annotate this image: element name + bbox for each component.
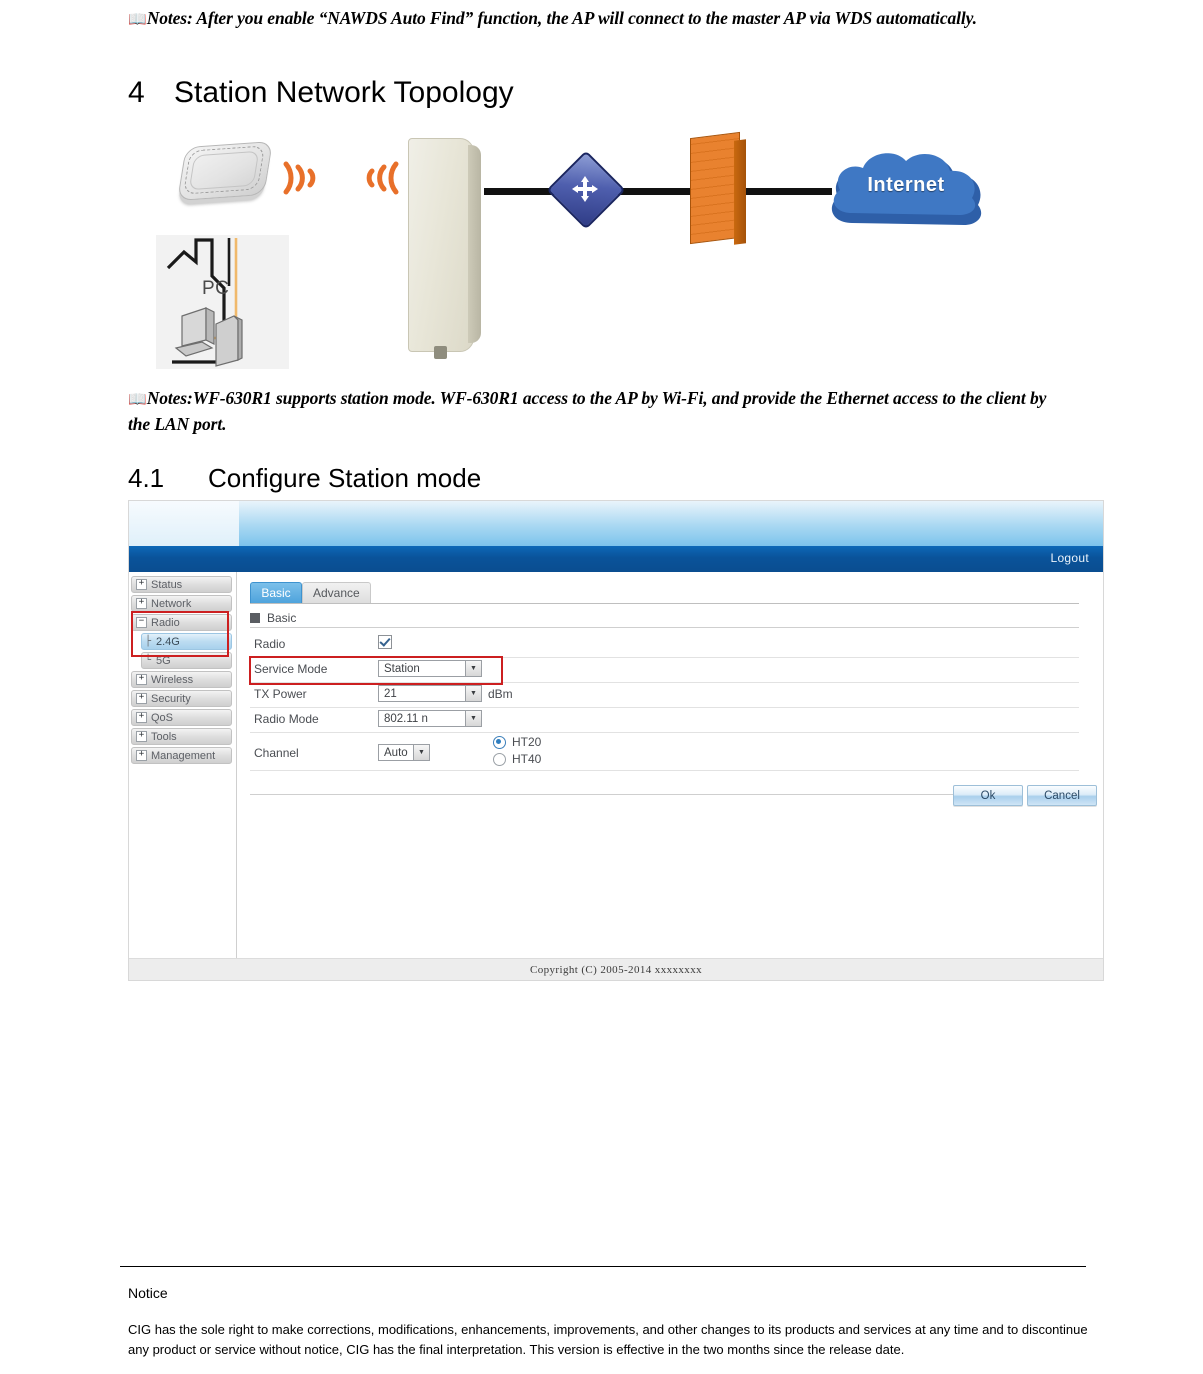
- internet-label: Internet: [822, 145, 990, 237]
- network-switch-icon: [554, 158, 618, 222]
- ui-banner-logo-area: [129, 501, 239, 546]
- field-label-channel: Channel: [254, 746, 299, 760]
- ht40-radio-icon[interactable]: [493, 753, 506, 766]
- note-wf630r1-station-mode: 📖Notes:WF-630R1 supports station mode. W…: [128, 386, 1058, 437]
- ui-banner-gradient: [239, 501, 1103, 546]
- notice-body: CIG has the sole right to make correctio…: [128, 1320, 1088, 1360]
- network-topology-diagram: PC: [150, 130, 1010, 375]
- firewall-icon: [690, 135, 752, 243]
- sidebar-item-qos[interactable]: +QoS: [131, 709, 232, 726]
- channel-value: Auto: [384, 747, 408, 759]
- sidebar-item-label: Network: [151, 598, 191, 610]
- tab-bar-divider: [250, 603, 1079, 604]
- tx-power-select[interactable]: 21 ▼: [378, 685, 482, 702]
- ui-top-navbar: [129, 546, 1103, 572]
- tx-power-unit-label: dBm: [488, 687, 513, 701]
- tab-basic[interactable]: Basic: [250, 582, 302, 603]
- radio-mode-value: 802.11 n: [384, 713, 428, 725]
- sidebar-item-security[interactable]: +Security: [131, 690, 232, 707]
- chevron-down-icon[interactable]: ▼: [465, 711, 481, 726]
- field-row-channel: Channel Auto ▼ HT20: [250, 735, 1079, 771]
- cancel-button[interactable]: Cancel: [1027, 785, 1097, 806]
- expand-plus-icon[interactable]: +: [136, 693, 147, 704]
- field-row-radio-mode: Radio Mode 802.11 n ▼: [250, 707, 1079, 733]
- ht20-radio-icon[interactable]: [493, 736, 506, 749]
- field-row-radio: Radio: [250, 632, 1079, 658]
- internet-cloud-icon: Internet: [822, 145, 990, 237]
- section-bullet-icon: [250, 613, 260, 623]
- field-label-tx-power: TX Power: [254, 687, 307, 701]
- tab-advance[interactable]: Advance: [302, 582, 371, 603]
- field-control-channel: Auto ▼: [378, 744, 430, 761]
- ok-button[interactable]: Ok: [953, 785, 1023, 806]
- wifi-waves-left-icon: [350, 150, 406, 206]
- note-text: Notes: After you enable “NAWDS Auto Find…: [147, 8, 977, 28]
- sidebar-item-2-4g[interactable]: ├2.4G: [141, 633, 232, 650]
- sidebar-item-5g[interactable]: └5G: [141, 652, 232, 669]
- heading-number: 4.1: [128, 463, 208, 494]
- sidebar-item-management[interactable]: +Management: [131, 747, 232, 764]
- ui-banner: [129, 501, 1103, 546]
- sidebar-item-status[interactable]: +Status: [131, 576, 232, 593]
- pc-icon: [172, 302, 258, 370]
- section-header-basic: Basic: [250, 611, 296, 625]
- expand-plus-icon[interactable]: +: [136, 731, 147, 742]
- wifi-waves-right-icon: [276, 150, 332, 206]
- radio-enable-checkbox[interactable]: [378, 635, 392, 649]
- collapse-minus-icon[interactable]: −: [136, 617, 147, 628]
- indoor-ap-icon: [174, 140, 276, 210]
- note-text: Notes:WF-630R1 supports station mode. WF…: [128, 388, 1046, 434]
- tree-branch-icon: └: [145, 655, 156, 666]
- ui-copyright-footer: Copyright (C) 2005-2014 xxxxxxxx: [129, 958, 1103, 980]
- notice-title: Notice: [128, 1285, 168, 1301]
- field-row-service-mode: Service Mode Station ▼: [250, 657, 1079, 683]
- chevron-down-icon[interactable]: ▼: [465, 661, 481, 676]
- expand-plus-icon[interactable]: +: [136, 712, 147, 723]
- chevron-down-icon[interactable]: ▼: [413, 745, 429, 760]
- field-label-radio-mode: Radio Mode: [254, 712, 319, 726]
- service-mode-value: Station: [384, 663, 420, 675]
- pc-label: PC: [202, 278, 229, 300]
- tree-branch-icon: ├: [145, 636, 156, 647]
- sidebar-item-label: Management: [151, 750, 215, 762]
- book-icon: 📖: [128, 10, 146, 28]
- bandwidth-radio-group: HT20 HT40: [493, 735, 541, 769]
- field-control-radio: [378, 635, 392, 649]
- cpe-outdoor-unit-icon: [408, 138, 486, 356]
- sidebar-item-label: Radio: [151, 617, 180, 629]
- chevron-down-icon[interactable]: ▼: [465, 686, 481, 701]
- channel-select[interactable]: Auto ▼: [378, 744, 430, 761]
- expand-plus-icon[interactable]: +: [136, 674, 147, 685]
- expand-plus-icon[interactable]: +: [136, 598, 147, 609]
- sidebar-item-label: 5G: [156, 655, 171, 667]
- sidebar-item-network[interactable]: +Network: [131, 595, 232, 612]
- service-mode-select[interactable]: Station ▼: [378, 660, 482, 677]
- field-control-service-mode: Station ▼: [378, 660, 482, 677]
- sidebar-item-label: Tools: [151, 731, 177, 743]
- bandwidth-option-ht40[interactable]: HT40: [493, 752, 541, 766]
- radio-mode-select[interactable]: 802.11 n ▼: [378, 710, 482, 727]
- sidebar-item-label: 2.4G: [156, 636, 180, 648]
- link-firewall-internet: [746, 188, 832, 195]
- field-label-radio: Radio: [254, 637, 285, 651]
- field-label-service-mode: Service Mode: [254, 662, 327, 676]
- field-row-tx-power: TX Power 21 ▼ dBm: [250, 682, 1079, 708]
- sidebar-item-tools[interactable]: +Tools: [131, 728, 232, 745]
- action-bar-divider: [250, 794, 1010, 795]
- footer-divider: [120, 1266, 1086, 1267]
- section-title-label: Basic: [267, 611, 296, 625]
- tx-power-value: 21: [384, 688, 397, 700]
- expand-plus-icon[interactable]: +: [136, 750, 147, 761]
- note-nawds-auto-find: 📖Notes: After you enable “NAWDS Auto Fin…: [128, 6, 1088, 32]
- book-icon: 📖: [128, 390, 146, 408]
- sidebar-item-label: Security: [151, 693, 191, 705]
- field-control-tx-power: 21 ▼ dBm: [378, 685, 513, 702]
- heading-number: 4: [128, 76, 174, 110]
- heading-text: Station Network Topology: [174, 76, 514, 109]
- ui-body: +Status +Network −Radio ├2.4G └5G +Wirel…: [129, 572, 1103, 959]
- content-pane: Basic Advance Basic Radio: [238, 572, 1103, 959]
- field-control-radio-mode: 802.11 n ▼: [378, 710, 482, 727]
- link-switch-firewall: [612, 188, 694, 195]
- sidebar-item-label: QoS: [151, 712, 173, 724]
- tab-bar: Basic Advance: [250, 582, 371, 603]
- heading-text: Configure Station mode: [208, 463, 481, 493]
- bandwidth-option-ht20[interactable]: HT20: [493, 735, 541, 749]
- sidebar-item-wireless[interactable]: +Wireless: [131, 671, 232, 688]
- router-web-ui-screenshot: Logout +Status +Network −Radio ├2.4G └5G…: [128, 500, 1104, 981]
- section-divider: [250, 627, 1079, 628]
- sidebar-item-radio[interactable]: −Radio: [131, 614, 232, 631]
- document-page: 📖Notes: After you enable “NAWDS Auto Fin…: [0, 0, 1203, 1374]
- sidebar-item-label: Wireless: [151, 674, 193, 686]
- ht20-label: HT20: [512, 735, 541, 749]
- sidebar-item-label: Status: [151, 579, 182, 591]
- sidebar-menu: +Status +Network −Radio ├2.4G └5G +Wirel…: [129, 572, 237, 959]
- ht40-label: HT40: [512, 752, 541, 766]
- expand-plus-icon[interactable]: +: [136, 579, 147, 590]
- heading-configure-station-mode: 4.1Configure Station mode: [128, 463, 481, 494]
- action-bar: Ok Cancel: [238, 794, 1103, 818]
- logout-button[interactable]: Logout: [1050, 551, 1089, 565]
- heading-station-network-topology: 4Station Network Topology: [128, 76, 514, 110]
